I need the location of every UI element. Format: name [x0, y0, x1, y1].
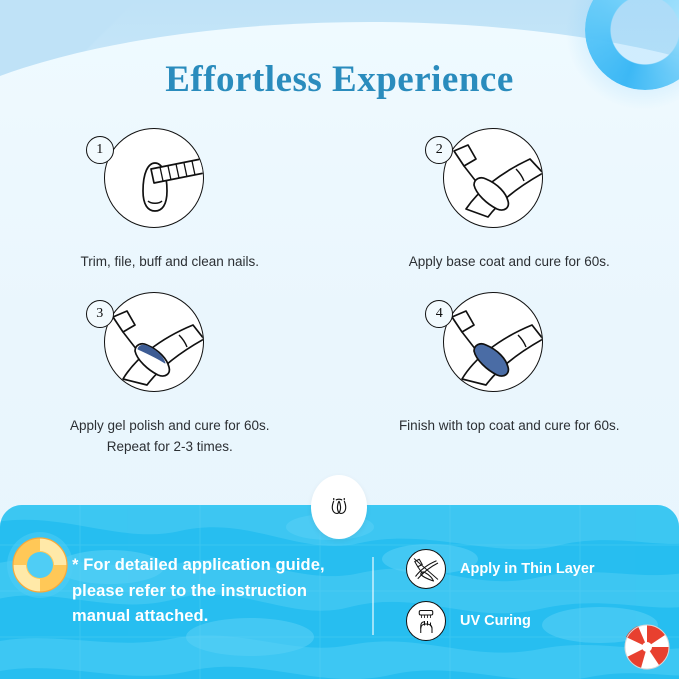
life-ring-icon	[4, 529, 76, 601]
banner-note: * For detailed application guide, please…	[72, 553, 362, 630]
step-caption: Apply base coat and cure for 60s.	[394, 252, 624, 272]
step-caption: Trim, file, buff and clean nails.	[55, 252, 285, 272]
step-artwork: 1	[80, 128, 260, 246]
feature-label: UV Curing	[460, 613, 531, 629]
step-artwork: 4	[419, 292, 599, 410]
steps-grid: 1 Trim, file, buff and clean nails.	[0, 128, 679, 457]
page-title: Effortless Experience	[0, 58, 679, 101]
step-number-badge: 3	[86, 300, 114, 328]
product-infographic: Effortless Experience 1 Trim	[0, 0, 679, 679]
base-coat-brush-icon	[443, 128, 543, 228]
banner-features: Apply in Thin Layer UV Curing	[406, 549, 656, 653]
step-item: 3 Apply gel polish and cure for	[0, 292, 340, 457]
step-number-badge: 1	[86, 136, 114, 164]
step-caption: Apply gel polish and cure for 60s. Repea…	[55, 416, 285, 457]
nail-file-icon	[104, 128, 204, 228]
feature-item: Apply in Thin Layer	[406, 549, 656, 589]
beach-ball-icon	[621, 621, 673, 673]
banner-divider	[372, 557, 374, 635]
gel-polish-brush-icon	[104, 292, 204, 392]
thin-layer-brush-icon	[406, 549, 446, 589]
nail-loops-icon	[311, 475, 367, 539]
uv-lamp-hand-icon	[406, 601, 446, 641]
step-item: 2 Apply base coat and cure for 60s.	[340, 128, 679, 272]
top-coat-brush-icon	[443, 292, 543, 392]
step-item: 1 Trim, file, buff and clean nails.	[0, 128, 340, 272]
step-artwork: 2	[419, 128, 599, 246]
step-caption: Finish with top coat and cure for 60s.	[394, 416, 624, 436]
step-item: 4 Finish with top coat and cure for 60s.	[340, 292, 679, 457]
step-artwork: 3	[80, 292, 260, 410]
feature-label: Apply in Thin Layer	[460, 561, 595, 577]
feature-item: UV Curing	[406, 601, 656, 641]
